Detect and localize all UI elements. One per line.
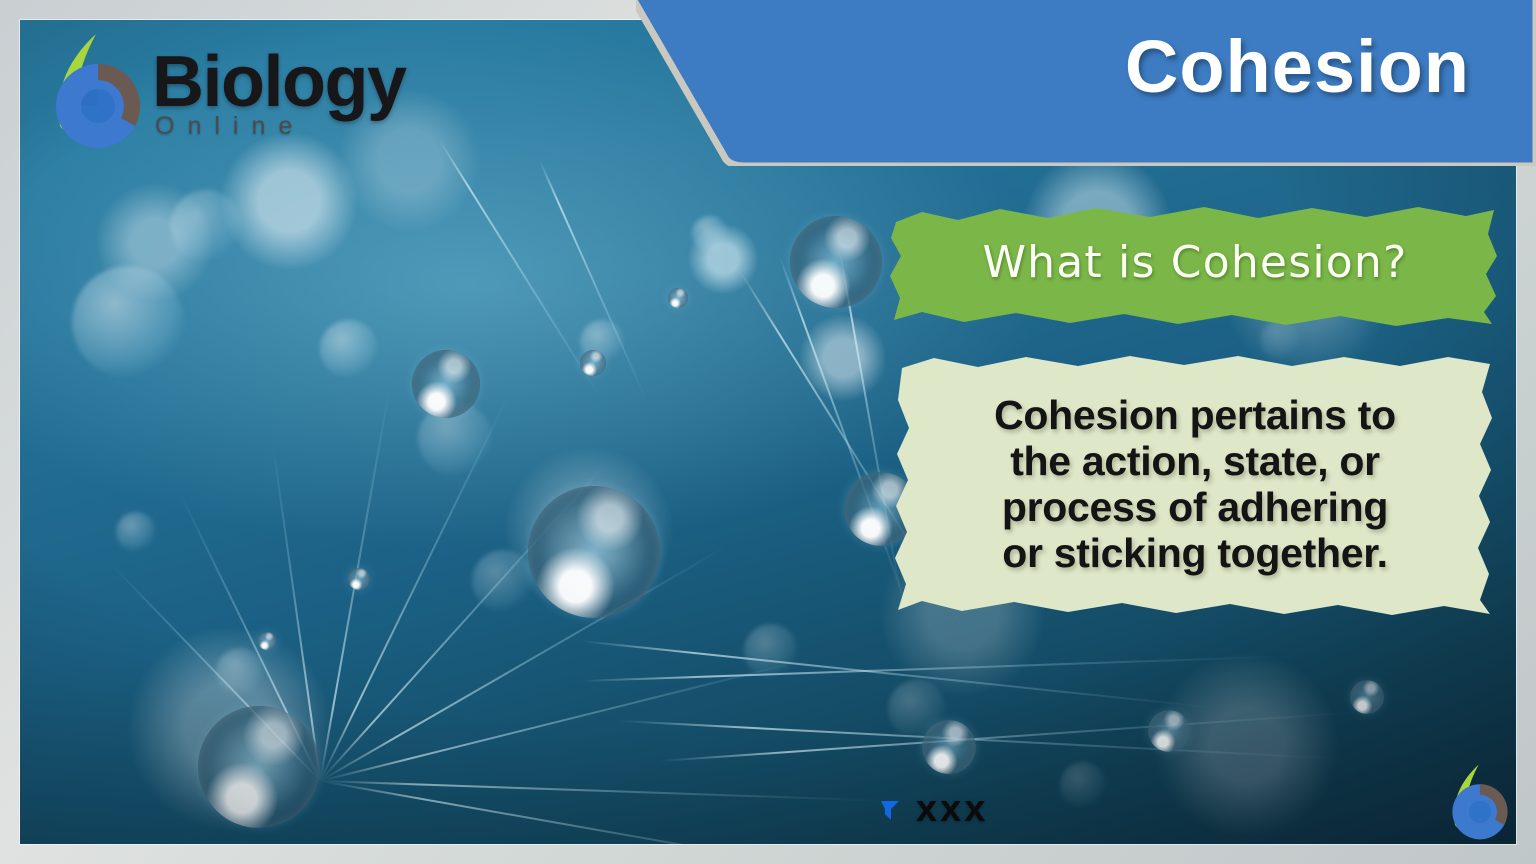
- biology-online-b-leaf-logo-icon: [36, 30, 148, 152]
- blue-arrow-marker-icon: [880, 799, 900, 821]
- watermark: xxx: [880, 788, 988, 831]
- page-title: Cohesion: [1125, 28, 1470, 106]
- title-banner: Cohesion: [636, 0, 1536, 166]
- definition-text: Cohesion pertains to the action, state, …: [892, 352, 1498, 618]
- brand-logo: Biology Online: [36, 30, 406, 152]
- definition-box: Cohesion pertains to the action, state, …: [892, 352, 1498, 618]
- slide-canvas: Biology Online Cohesion What is Cohesion…: [0, 0, 1536, 864]
- question-box-label: What is Cohesion?: [888, 200, 1502, 328]
- question-box: What is Cohesion?: [888, 200, 1502, 328]
- definition-line-1: Cohesion pertains to: [994, 393, 1396, 439]
- definition-line-4: or sticking together.: [1002, 531, 1388, 577]
- watermark-text: xxx: [916, 788, 988, 831]
- corner-brand-logo-icon: [1438, 762, 1514, 842]
- brand-name: Biology: [152, 52, 406, 114]
- definition-line-2: the action, state, or: [1010, 439, 1380, 485]
- definition-line-3: process of adhering: [1002, 485, 1388, 531]
